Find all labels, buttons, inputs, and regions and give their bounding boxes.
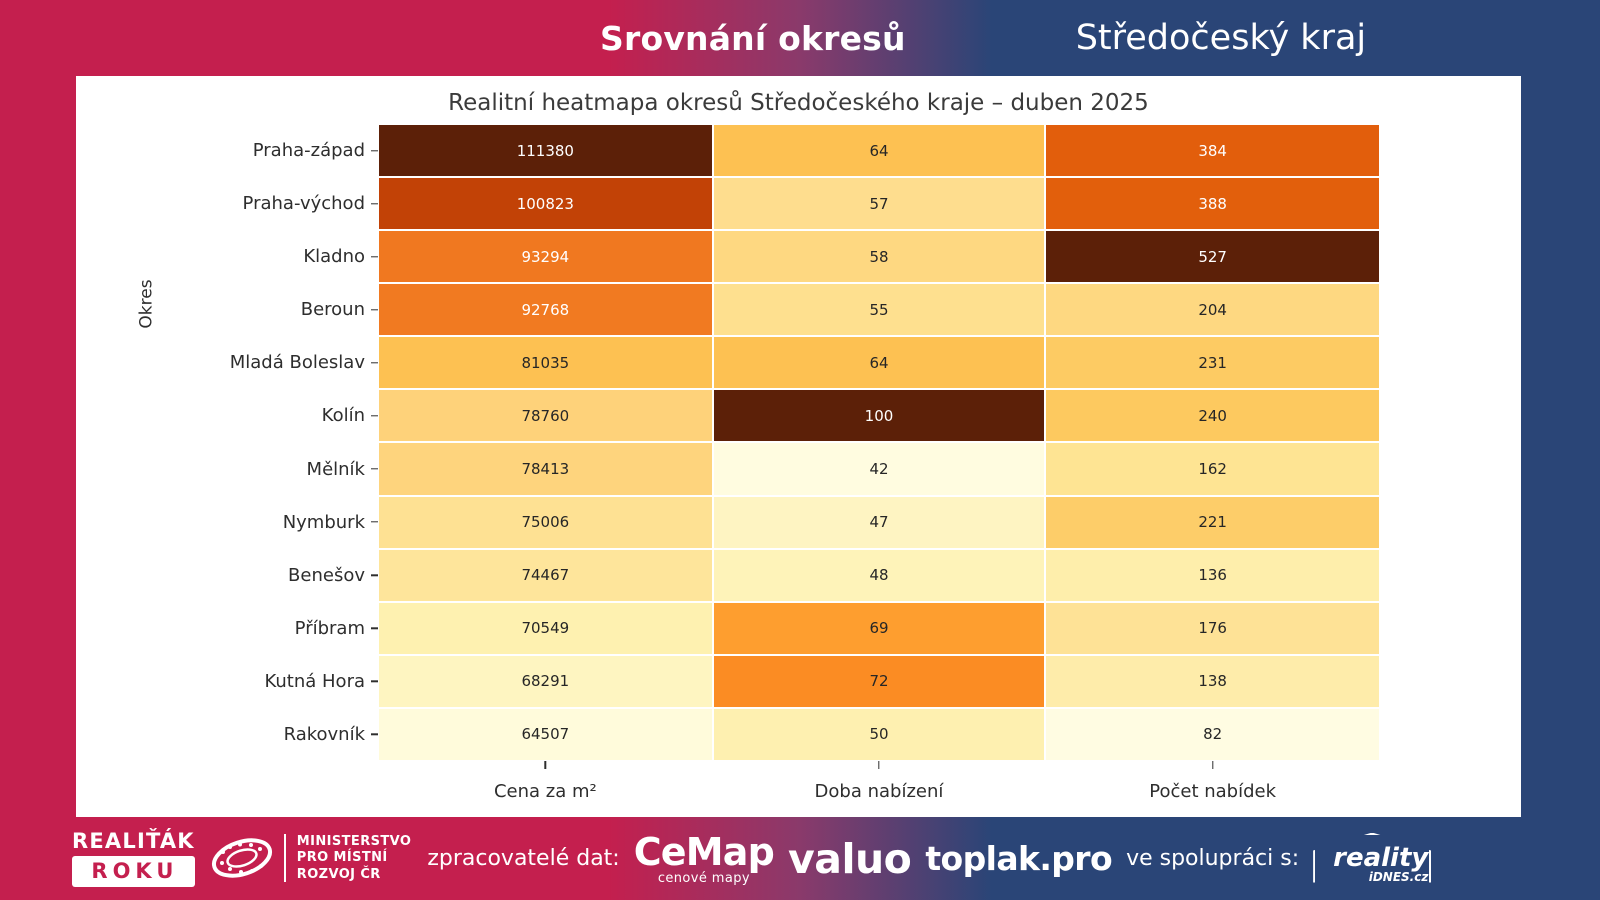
- heatmap-row: Kutná Hora6829172138: [378, 655, 1380, 708]
- heatmap-cell-value: 58: [869, 248, 888, 266]
- heatmap-cell-value: 42: [869, 460, 888, 478]
- heatmap-cell[interactable]: 69: [713, 602, 1046, 655]
- chart-title: Realitní heatmapa okresů Středočeského k…: [76, 90, 1521, 116]
- district-name: Kolín: [322, 405, 365, 426]
- heatmap-cell-value: 162: [1198, 460, 1227, 478]
- district-name: Nymburk: [283, 512, 365, 533]
- heatmap-cell-value: 64507: [521, 725, 569, 743]
- heatmap-cell-value: 74467: [521, 566, 569, 584]
- heatmap-cell-value: 50: [869, 725, 888, 743]
- heatmap-cell[interactable]: 527: [1045, 230, 1380, 283]
- heatmap-cell[interactable]: 50: [713, 708, 1046, 761]
- heatmap-cell[interactable]: 64507: [378, 708, 713, 761]
- heatmap-cell-value: 57: [869, 195, 888, 213]
- heatmap-cell-value: 69: [869, 619, 888, 637]
- heatmap-cell[interactable]: 55: [713, 283, 1046, 336]
- heatmap-row: Praha-západ11138064384: [378, 124, 1380, 177]
- district-name: Mladá Boleslav: [230, 352, 365, 373]
- y-tick-mark: [371, 468, 378, 469]
- heatmap-row: Benešov7446748136: [378, 549, 1380, 602]
- realitak-roku-logo: REALIŤÁK ROKU: [72, 831, 195, 887]
- y-axis-tick-label: Beroun: [301, 283, 378, 336]
- heatmap-row: Nymburk7500647221: [378, 496, 1380, 549]
- heatmap-grid: Praha-západ11138064384Praha-východ100823…: [378, 124, 1380, 761]
- heatmap-cell[interactable]: 388: [1045, 177, 1380, 230]
- y-tick-mark: [371, 362, 378, 363]
- y-axis-tick-label: Mělník: [307, 442, 378, 495]
- y-tick-mark: [371, 150, 378, 151]
- heatmap-cell-value: 48: [869, 566, 888, 584]
- y-axis-tick-label: Praha-západ: [253, 124, 378, 177]
- y-axis-tick-label: Kladno: [303, 230, 378, 283]
- y-axis-tick-label: Praha-východ: [243, 177, 378, 230]
- district-name: Kutná Hora: [264, 671, 365, 692]
- y-tick-mark: [371, 309, 378, 310]
- heatmap-cell-value: 136: [1198, 566, 1227, 584]
- heatmap-cell-value: 176: [1198, 619, 1227, 637]
- heatmap-cell[interactable]: 74467: [378, 549, 713, 602]
- y-axis-title: Okres: [137, 279, 157, 328]
- heatmap-cell-value: 204: [1198, 301, 1227, 319]
- heatmap-row: Rakovník645075082: [378, 708, 1380, 761]
- heatmap-cell-value: 47: [869, 513, 888, 531]
- y-tick-mark: [371, 415, 378, 416]
- x-tick-mark: [545, 761, 546, 769]
- heatmap-cell-value: 138: [1198, 672, 1227, 690]
- heatmap-row: Beroun9276855204: [378, 283, 1380, 336]
- y-axis-tick-label: Nymburk: [283, 496, 378, 549]
- y-tick-mark: [371, 681, 378, 682]
- heatmap-cell[interactable]: 78760: [378, 389, 713, 442]
- ministry-line-3: ROZVOJ ČR: [297, 867, 412, 883]
- district-name: Příbram: [295, 618, 365, 639]
- realitak-logo-line2: ROKU: [72, 856, 195, 887]
- heatmap-cell-value: 82: [1203, 725, 1222, 743]
- heatmap-cell[interactable]: 78413: [378, 442, 713, 495]
- heatmap-cell[interactable]: 204: [1045, 283, 1380, 336]
- heatmap-cell-value: 81035: [521, 354, 569, 372]
- x-axis-tick-label: Doba nabízení: [713, 761, 1046, 802]
- heatmap-cell-value: 240: [1198, 407, 1227, 425]
- heatmap-cell[interactable]: 81035: [378, 336, 713, 389]
- heatmap-cell[interactable]: 240: [1045, 389, 1380, 442]
- y-tick-mark: [371, 203, 378, 204]
- heatmap-cell-value: 92768: [521, 301, 569, 319]
- poster-root: Srovnání okresů Středočeský kraj Realitn…: [0, 0, 1600, 900]
- heatmap-cell[interactable]: 93294: [378, 230, 713, 283]
- ministry-name: MINISTERSTVO PRO MÍSTNÍ ROZVOJ ČR: [297, 834, 412, 882]
- heatmap-cell[interactable]: 111380: [378, 124, 713, 177]
- heatmap-row: Mladá Boleslav8103564231: [378, 336, 1380, 389]
- heatmap-cell[interactable]: 64: [713, 336, 1046, 389]
- heatmap-cell[interactable]: 68291: [378, 655, 713, 708]
- heatmap-cell-value: 64: [869, 354, 888, 372]
- heatmap-cell[interactable]: 176: [1045, 602, 1380, 655]
- poster-header: Srovnání okresů Středočeský kraj: [0, 0, 1600, 76]
- heatmap-cell-value: 100: [865, 407, 894, 425]
- heatmap-cell-value: 93294: [521, 248, 569, 266]
- district-name: Rakovník: [284, 724, 365, 745]
- district-name: Praha-východ: [243, 193, 365, 214]
- page-title: Srovnání okresů: [600, 19, 906, 58]
- heatmap-cell-value: 231: [1198, 354, 1227, 372]
- heatmap-cell-value: 78760: [521, 407, 569, 425]
- cemap-logo: CeMap cenové mapy: [634, 833, 774, 885]
- heatmap-cell-value: 72: [869, 672, 888, 690]
- x-tick-mark: [1212, 761, 1213, 769]
- heatmap-cell[interactable]: 136: [1045, 549, 1380, 602]
- heatmap-cell-value: 384: [1198, 142, 1227, 160]
- heatmap-cell[interactable]: 57: [713, 177, 1046, 230]
- heatmap-cell[interactable]: 75006: [378, 496, 713, 549]
- heatmap-cell-value: 111380: [517, 142, 574, 160]
- heatmap-cell-value: 70549: [521, 619, 569, 637]
- heatmap-cell[interactable]: 47: [713, 496, 1046, 549]
- heatmap-cell-value: 100823: [517, 195, 574, 213]
- cemap-logo-name: CeMap: [634, 833, 774, 871]
- heatmap-row: Praha-východ10082357388: [378, 177, 1380, 230]
- heatmap-cell[interactable]: 221: [1045, 496, 1380, 549]
- y-axis-tick-label: Kolín: [322, 389, 378, 442]
- poster-footer: REALIŤÁK ROKU: [0, 817, 1600, 900]
- heatmap-cell-value: 64: [869, 142, 888, 160]
- heatmap-cell[interactable]: 64: [713, 124, 1046, 177]
- heatmap-cell-value: 527: [1198, 248, 1227, 266]
- heatmap-row: Kolín78760100240: [378, 389, 1380, 442]
- heatmap-cell[interactable]: 384: [1045, 124, 1380, 177]
- toplak-logo: toplak.pro: [925, 839, 1112, 878]
- heatmap-row: Kladno9329458527: [378, 230, 1380, 283]
- heatmap-cell[interactable]: 162: [1045, 442, 1380, 495]
- ministry-line-1: MINISTERSTVO: [297, 834, 412, 850]
- ministry-line-2: PRO MÍSTNÍ: [297, 850, 412, 866]
- x-axis-tick-label: Cena za m²: [378, 761, 713, 802]
- cemap-logo-tagline: cenové mapy: [658, 872, 750, 885]
- realitak-logo-line1: REALIŤÁK: [72, 831, 195, 852]
- heatmap-cell[interactable]: 48: [713, 549, 1046, 602]
- heatmap-cell-value: 68291: [521, 672, 569, 690]
- district-name: Beroun: [301, 299, 365, 320]
- district-name: Mělník: [307, 459, 365, 480]
- y-axis-tick-label: Mladá Boleslav: [230, 336, 378, 389]
- y-tick-mark: [371, 521, 378, 522]
- valuo-logo: valuo: [788, 835, 911, 883]
- y-tick-mark: [371, 256, 378, 257]
- data-credits: zpracovatelé dat: CeMap cenové mapy valu…: [427, 831, 1600, 887]
- heatmap-cell[interactable]: 72: [713, 655, 1046, 708]
- heatmap-cell[interactable]: 100: [713, 389, 1046, 442]
- heatmap-cell-value: 75006: [521, 513, 569, 531]
- heatmap-cell-value: 221: [1198, 513, 1227, 531]
- heatmap-cell-value: 78413: [521, 460, 569, 478]
- idnes-domain: iDNES.cz: [1369, 871, 1429, 883]
- heatmap-cell-value: 55: [869, 301, 888, 319]
- y-axis-tick-label: Kutná Hora: [264, 655, 378, 708]
- reality-idnes-logo: reality iDNES.cz: [1313, 831, 1434, 887]
- y-axis-tick-label: Rakovník: [284, 708, 378, 761]
- district-name: Benešov: [288, 565, 365, 586]
- district-name: Praha-západ: [253, 140, 365, 161]
- region-name: Středočeský kraj: [1076, 18, 1366, 58]
- x-axis-tick-labels: Cena za m²Doba nabízeníPočet nabídek: [378, 761, 1380, 802]
- heatmap-row: Příbram7054969176: [378, 602, 1380, 655]
- district-name: Kladno: [303, 246, 365, 267]
- x-tick-mark: [878, 761, 879, 769]
- chart-panel: Realitní heatmapa okresů Středočeského k…: [76, 76, 1521, 817]
- cooperation-label: ve spolupráci s:: [1126, 846, 1299, 871]
- ministry-logo: MINISTERSTVO PRO MÍSTNÍ ROZVOJ ČR: [211, 834, 412, 882]
- heatmap-cell[interactable]: 70549: [378, 602, 713, 655]
- y-axis-tick-label: Příbram: [295, 602, 378, 655]
- ministry-emblem-icon: [211, 836, 273, 880]
- heatmap-cell[interactable]: 100823: [378, 177, 713, 230]
- heatmap-cell[interactable]: 231: [1045, 336, 1380, 389]
- heatmap-cell[interactable]: 92768: [378, 283, 713, 336]
- heatmap-cell-value: 388: [1198, 195, 1227, 213]
- y-tick-mark: [371, 734, 378, 735]
- heatmap-cell[interactable]: 58: [713, 230, 1046, 283]
- y-tick-mark: [371, 628, 378, 629]
- ministry-divider: [284, 834, 286, 882]
- x-axis-tick-label: Počet nabídek: [1045, 761, 1380, 802]
- idnes-brand-name: reality: [1333, 845, 1428, 871]
- y-axis-tick-label: Benešov: [288, 549, 378, 602]
- credits-label: zpracovatelé dat:: [427, 846, 619, 871]
- heatmap-cell[interactable]: 42: [713, 442, 1046, 495]
- heatmap-cell[interactable]: 138: [1045, 655, 1380, 708]
- heatmap-cell[interactable]: 82: [1045, 708, 1380, 761]
- heatmap-row: Mělník7841342162: [378, 442, 1380, 495]
- y-tick-mark: [371, 574, 378, 575]
